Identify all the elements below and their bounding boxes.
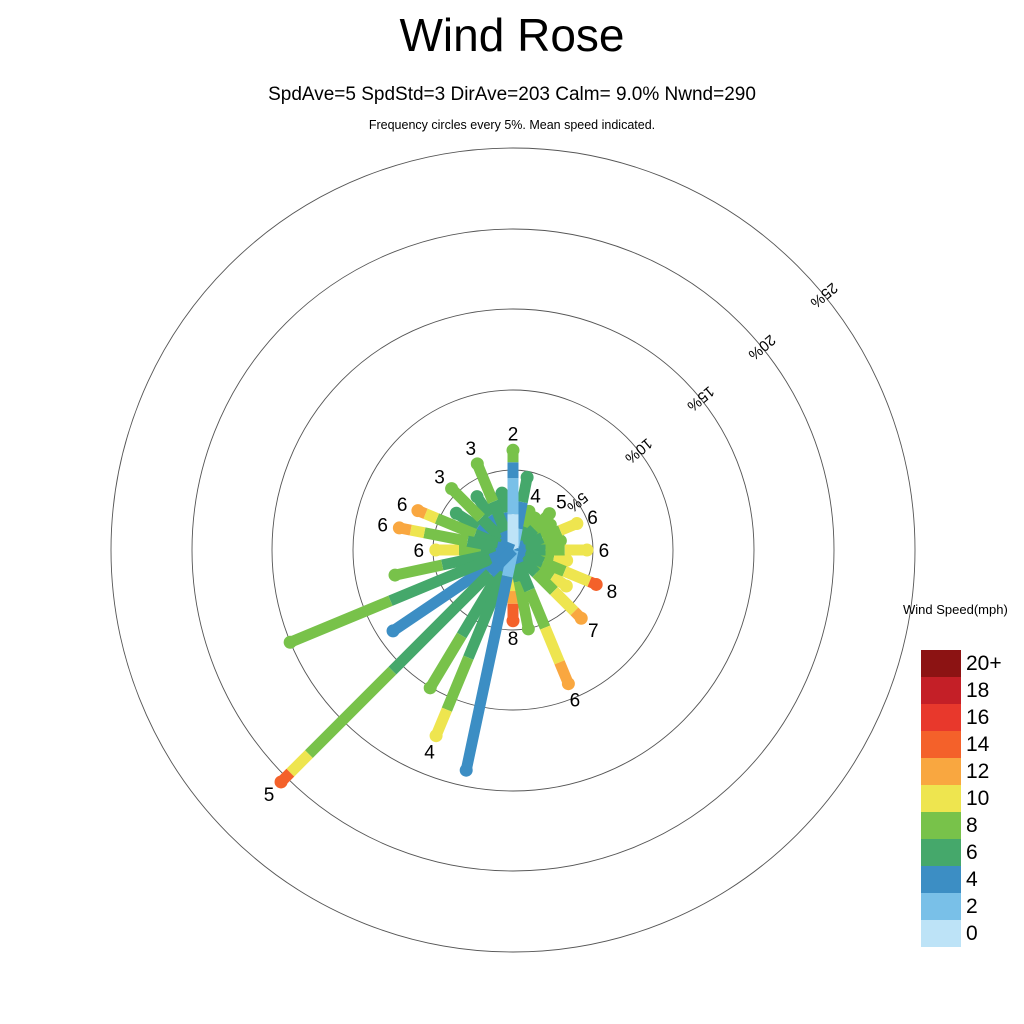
legend-label: 2 [966,895,978,919]
petal-segment [545,628,559,663]
legend-swatch [921,812,961,839]
petal-mean-speed-label: 6 [587,508,598,529]
legend-swatch [921,839,961,866]
petal-mean-speed-label: 5 [556,493,567,514]
petal-tip [575,612,588,625]
petal-mean-speed-label: 2 [508,424,519,445]
petal-tip [495,487,508,500]
legend-title: Wind Speed(mph) [903,602,1008,617]
petal-mean-speed-label: 6 [570,690,581,711]
petal-tip [570,517,583,530]
wind-rose-plot: 5%10%15%20%25% 2456687684566336 [0,0,1024,1024]
petal-group [275,444,603,789]
petal-segment [542,530,560,537]
petal-tip [507,444,520,457]
petal-tip [393,521,406,534]
petal-segment [290,754,309,773]
ring-percent-label: 15% [684,382,718,414]
petal-tip [590,578,603,591]
legend-swatch [921,704,961,731]
petal-tip [562,677,575,690]
ring-percent-label: 10% [621,434,655,466]
petal-mean-speed-label: 8 [607,582,618,603]
petal-mean-speed-label: 7 [588,621,599,642]
petal-mean-speed-label: 6 [397,495,408,516]
petal-segment [426,514,437,519]
petal [507,444,520,550]
legend-label: 14 [966,733,989,757]
legend-swatch [921,866,961,893]
petal-mean-speed-label: 6 [599,541,610,562]
petal-tip [284,636,297,649]
petal-mean-speed-label: 6 [414,541,425,562]
petal-tip [543,507,556,520]
ring-percent-label: 25% [807,279,841,311]
legend-label: 16 [966,706,989,730]
petal-mean-speed-label: 6 [377,516,388,537]
petal-tip [429,544,442,557]
petal-mean-speed-label: 5 [264,785,275,806]
petal-tip [424,681,437,694]
legend-label: 6 [966,841,978,865]
legend-label: 18 [966,679,989,703]
petal-segment [309,671,393,755]
legend-swatch [921,731,961,758]
petal-segment [290,601,390,643]
petal-tip [389,569,402,582]
petal-segment [411,530,425,533]
ring-percent-label: 20% [745,331,779,363]
ring-label-group: 5%10%15%20%25% [563,279,840,516]
petal-tip [445,482,458,495]
petal-tip [430,729,443,742]
legend-swatch [921,785,961,812]
legend-label: 8 [966,814,978,838]
petal-tip [275,775,288,788]
petal-tip [580,544,593,557]
petal-mean-speed-label: 4 [424,742,435,763]
legend-swatch [921,893,961,920]
petal-tip [471,490,484,503]
petal-segment [554,591,574,611]
petal-tip [460,764,473,777]
legend-swatch [921,920,961,947]
legend-label: 0 [966,922,978,946]
petal-tip [521,471,534,484]
petal-mean-speed-label: 4 [530,487,541,508]
petal-segment [395,565,442,575]
petal-mean-speed-label: 3 [434,468,445,489]
petal-tip [387,624,400,637]
petal-segment [468,541,498,547]
petal-tip [507,614,520,627]
petal-mean-speed-label: 3 [466,439,477,460]
petal-tip [560,579,573,592]
petal-segment [524,538,542,545]
petal-segment [447,658,469,710]
petal-tip [450,507,463,520]
legend-swatch [921,677,961,704]
petal [275,550,513,788]
petal-tip [522,622,535,635]
legend-label: 4 [966,868,978,892]
legend-label: 10 [966,787,989,811]
legend-label: 12 [966,760,989,784]
legend-swatch [921,758,961,785]
petal-tip [411,504,424,517]
petal-mean-speed-label: 8 [508,629,519,650]
legend-swatch [921,650,961,677]
legend-label: 20+ [966,652,1002,676]
